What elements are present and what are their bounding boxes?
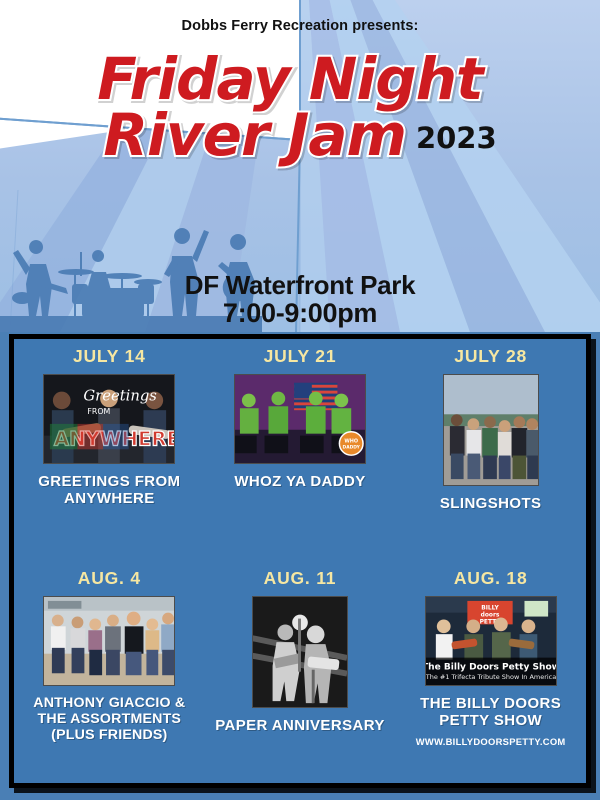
poster-header-background: Dobbs Ferry Recreation presents: Friday …: [0, 0, 600, 332]
band-photo-billy-doors-petty-show: BILLY doors PETTY The Billy Doors Petty …: [425, 596, 557, 686]
band-photo-greetings-from-anywhere: Greetings FROM ANYWHERE: [43, 374, 175, 464]
svg-text:FROM: FROM: [88, 407, 111, 416]
band-name: PAPER ANNIVERSARY: [215, 717, 385, 734]
show-date: AUG. 4: [78, 568, 141, 589]
lineup-grid: JULY 14 Greetings FROM ANYWHERE: [14, 339, 586, 783]
poster-title: Friday Night River Jam 2023: [0, 52, 600, 163]
band-photo-paper-anniversary: [252, 596, 348, 708]
lineup-item[interactable]: JULY 28: [395, 339, 586, 561]
presenter-line: Dobbs Ferry Recreation presents:: [0, 18, 600, 34]
poster-canvas: Dobbs Ferry Recreation presents: Friday …: [0, 0, 600, 800]
lineup-item[interactable]: JULY 14 Greetings FROM ANYWHERE: [14, 339, 205, 561]
title-line-2: River Jam: [103, 108, 406, 164]
band-name: ANTHONY GIACCIO & THE ASSORTMENTS (PLUS …: [18, 695, 201, 744]
show-date: AUG. 11: [264, 568, 337, 589]
show-date: JULY 28: [454, 346, 527, 367]
band-name: SLINGSHOTS: [440, 495, 542, 512]
show-date: AUG. 18: [454, 568, 528, 589]
svg-text:WHO: WHO: [344, 438, 358, 444]
svg-text:doors: doors: [480, 613, 499, 619]
band-name: THE BILLY DOORS PETTY SHOW: [399, 695, 582, 729]
lineup-item[interactable]: AUG. 11: [205, 561, 396, 783]
svg-text:DADDY: DADDY: [343, 444, 361, 450]
venue-name: DF Waterfront Park: [0, 272, 600, 299]
band-photo-slingshots: [443, 374, 539, 486]
band-name: WHOZ YA DADDY: [234, 473, 365, 490]
photo-caption: The Billy Doors Petty Show: [426, 662, 556, 672]
show-date: JULY 21: [264, 346, 337, 367]
photo-subcaption: The #1 Trifecta Tribute Show In America: [426, 673, 556, 681]
venue-time: 7:00-9:00pm: [0, 299, 600, 329]
lineup-item[interactable]: AUG. 18 BILLY doors PETTY: [395, 561, 586, 783]
svg-text:BILLY: BILLY: [481, 606, 499, 612]
lineup-item[interactable]: AUG. 4: [14, 561, 205, 783]
band-name: GREETINGS FROM ANYWHERE: [18, 473, 201, 507]
band-website[interactable]: WWW.BILLYDOORSPETTY.COM: [416, 736, 566, 747]
show-date: JULY 14: [73, 346, 146, 367]
band-photo-whoz-ya-daddy: WHO DADDY: [234, 374, 366, 464]
poster-year: 2023: [416, 121, 497, 163]
band-photo-anthony-giaccio: [43, 596, 175, 686]
svg-text:Greetings: Greetings: [84, 387, 158, 404]
lineup-item[interactable]: JULY 21: [205, 339, 396, 561]
lineup-panel: JULY 14 Greetings FROM ANYWHERE: [9, 334, 591, 788]
venue-info: DF Waterfront Park 7:00-9:00pm: [0, 272, 600, 329]
title-line-1: Friday Night: [0, 52, 600, 108]
